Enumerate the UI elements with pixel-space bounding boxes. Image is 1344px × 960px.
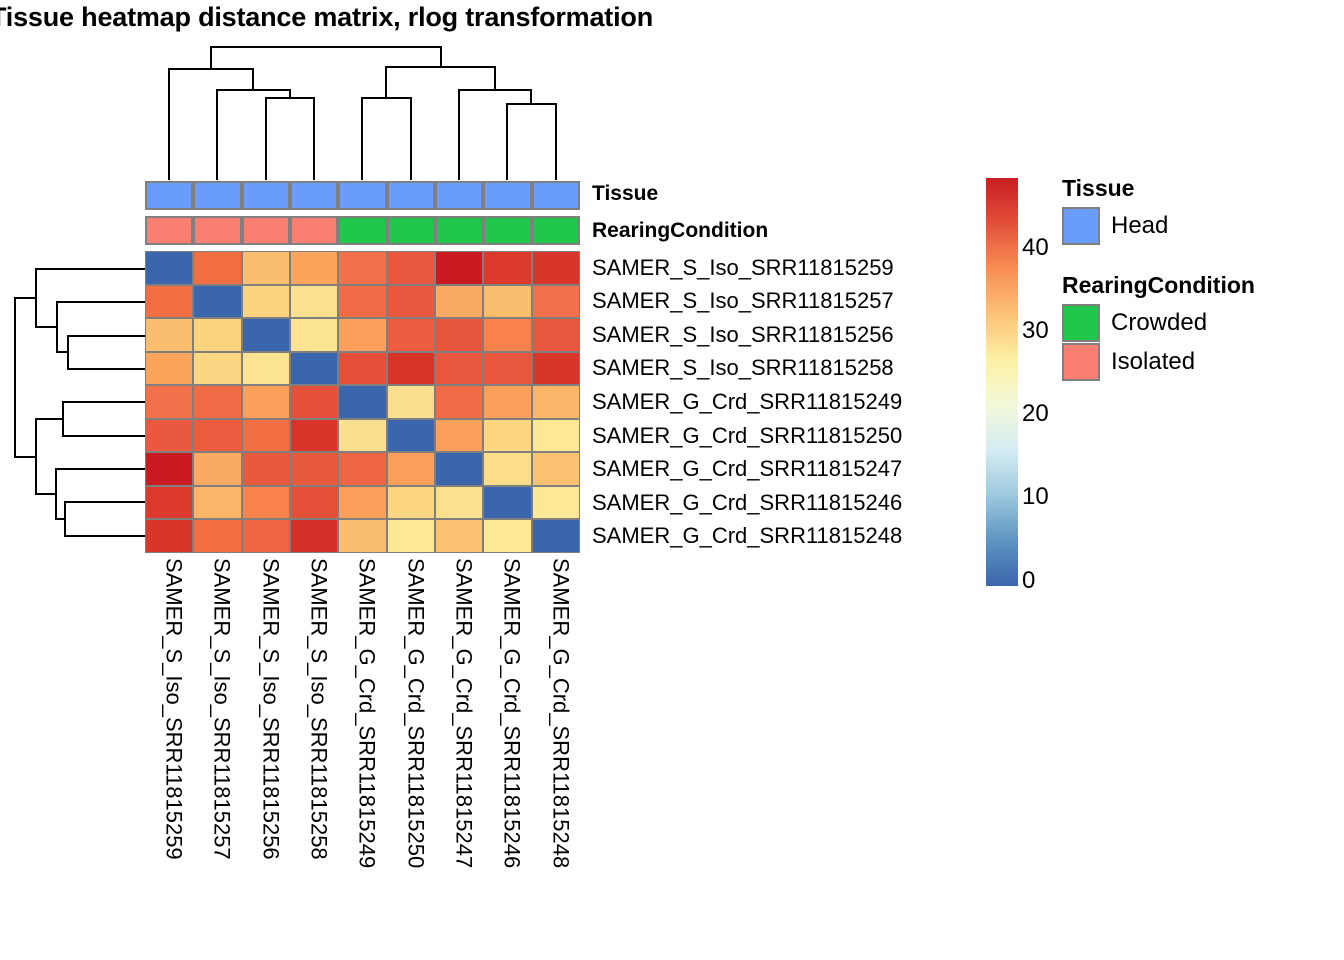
heatmap-cell xyxy=(193,419,241,453)
annotation-rearing-cell xyxy=(435,216,483,245)
legend-rearingcondition-entries: CrowdedIsolated xyxy=(1062,303,1255,381)
heatmap-cell xyxy=(387,519,435,553)
heatmap-cell xyxy=(387,251,435,285)
column-label-slot: SAMER_G_Crd_SRR11815250 xyxy=(387,558,435,938)
heatmap-cell xyxy=(483,385,531,419)
row-label: SAMER_S_Iso_SRR11815257 xyxy=(592,285,902,319)
heatmap-cell xyxy=(290,519,338,553)
heatmap-cell xyxy=(145,318,193,352)
heatmap-cell xyxy=(145,352,193,386)
heatmap-cell xyxy=(242,519,290,553)
annotation-tissue-cell xyxy=(532,181,580,210)
legend-rearingcondition-entry[interactable]: Isolated xyxy=(1062,342,1255,381)
row-dendrogram xyxy=(8,252,145,552)
annotation-label-rearingcondition: RearingCondition xyxy=(592,219,768,243)
heatmap-cell xyxy=(338,486,386,520)
column-label-slot: SAMER_G_Crd_SRR11815248 xyxy=(532,558,580,938)
annotation-tissue-cell xyxy=(435,181,483,210)
heatmap-cell xyxy=(435,519,483,553)
heatmap-cell xyxy=(145,251,193,285)
heatmap-cell xyxy=(242,285,290,319)
column-label: SAMER_S_Iso_SRR11815257 xyxy=(211,558,233,860)
heatmap-cell xyxy=(532,452,580,486)
heatmap-cell xyxy=(193,486,241,520)
heatmap-cell xyxy=(193,285,241,319)
heatmap-cell xyxy=(338,385,386,419)
colorbar-gradient xyxy=(986,178,1018,586)
annotation-tissue-cell xyxy=(193,181,241,210)
legend-rearingcondition-entry-label: Isolated xyxy=(1111,350,1195,374)
annotation-rearing-cell xyxy=(193,216,241,245)
heatmap-cell xyxy=(532,385,580,419)
heatmap-cell xyxy=(532,251,580,285)
column-label-slot: SAMER_S_Iso_SRR11815256 xyxy=(242,558,290,938)
column-label: SAMER_G_Crd_SRR11815246 xyxy=(501,558,523,868)
heatmap-cell xyxy=(435,352,483,386)
column-label-slot: SAMER_G_Crd_SRR11815249 xyxy=(338,558,386,938)
column-label: SAMER_S_Iso_SRR11815256 xyxy=(259,558,281,860)
heatmap-cell xyxy=(483,285,531,319)
colorbar-tick-label: 0 xyxy=(1022,569,1035,593)
column-label: SAMER_S_Iso_SRR11815258 xyxy=(308,558,330,860)
heatmap-cell xyxy=(242,251,290,285)
column-label: SAMER_S_Iso_SRR11815259 xyxy=(163,558,185,860)
colorbar-tick-label: 10 xyxy=(1022,485,1049,509)
heatmap-cell xyxy=(145,385,193,419)
row-label: SAMER_G_Crd_SRR11815246 xyxy=(592,486,902,520)
heatmap-cell xyxy=(193,452,241,486)
heatmap-matrix xyxy=(145,251,580,553)
annotation-tissue-cell xyxy=(145,181,193,210)
column-dendrogram xyxy=(145,42,580,180)
heatmap-cell xyxy=(387,385,435,419)
row-label: SAMER_G_Crd_SRR11815249 xyxy=(592,385,902,419)
heatmap-cell xyxy=(532,486,580,520)
heatmap-cell xyxy=(435,419,483,453)
annotation-bar-rearingcondition xyxy=(145,216,580,245)
heatmap-cell xyxy=(483,519,531,553)
colorbar-tick-label: 40 xyxy=(1022,236,1049,260)
heatmap-cell xyxy=(290,419,338,453)
legend-rearingcondition-title: RearingCondition xyxy=(1062,272,1255,299)
heatmap-cell xyxy=(193,352,241,386)
legend-tissue-entry-label: Head xyxy=(1111,214,1168,238)
heatmap-cell xyxy=(338,519,386,553)
heatmap-cell xyxy=(193,251,241,285)
heatmap-cell xyxy=(290,285,338,319)
heatmap-cell xyxy=(193,318,241,352)
heatmap-cell xyxy=(338,318,386,352)
heatmap-cell xyxy=(483,352,531,386)
heatmap-cell xyxy=(338,352,386,386)
row-label: SAMER_S_Iso_SRR11815258 xyxy=(592,352,902,386)
annotation-rearing-cell xyxy=(145,216,193,245)
annotation-rearing-cell xyxy=(532,216,580,245)
annotation-rearing-cell xyxy=(338,216,386,245)
heatmap-cell xyxy=(290,352,338,386)
heatmap-cell xyxy=(145,419,193,453)
column-label-slot: SAMER_S_Iso_SRR11815258 xyxy=(290,558,338,938)
heatmap-cell xyxy=(290,385,338,419)
heatmap-cell xyxy=(435,318,483,352)
legend-rearingcondition-entry-label: Crowded xyxy=(1111,311,1207,335)
annotation-rearing-cell xyxy=(387,216,435,245)
heatmap-cell xyxy=(338,285,386,319)
heatmap-cell xyxy=(242,486,290,520)
annotation-tissue-cell xyxy=(483,181,531,210)
legend-rearingcondition: RearingCondition CrowdedIsolated xyxy=(1062,272,1255,381)
column-label: SAMER_G_Crd_SRR11815248 xyxy=(549,558,571,868)
heatmap-cell xyxy=(483,419,531,453)
heatmap-cell xyxy=(435,486,483,520)
heatmap-cell xyxy=(387,318,435,352)
heatmap-cell xyxy=(290,486,338,520)
heatmap-cell xyxy=(532,419,580,453)
annotation-label-tissue: Tissue xyxy=(592,182,658,206)
heatmap-cell xyxy=(145,519,193,553)
annotation-bar-tissue xyxy=(145,181,580,210)
column-label-slot: SAMER_G_Crd_SRR11815246 xyxy=(483,558,531,938)
column-label-slot: SAMER_S_Iso_SRR11815257 xyxy=(193,558,241,938)
heatmap-cell xyxy=(483,251,531,285)
heatmap-cell xyxy=(145,452,193,486)
colorbar-tick-label: 30 xyxy=(1022,319,1049,343)
row-label: SAMER_S_Iso_SRR11815259 xyxy=(592,251,902,285)
page-title: Tissue heatmap distance matrix, rlog tra… xyxy=(0,2,653,33)
heatmap-cell xyxy=(387,285,435,319)
heatmap-cell xyxy=(193,519,241,553)
column-label-slot: SAMER_S_Iso_SRR11815259 xyxy=(145,558,193,938)
annotation-tissue-cell xyxy=(242,181,290,210)
column-label-slot: SAMER_G_Crd_SRR11815247 xyxy=(435,558,483,938)
heatmap-cell xyxy=(387,419,435,453)
heatmap-cell xyxy=(387,452,435,486)
legend-tissue-swatch xyxy=(1062,207,1100,245)
column-label: SAMER_G_Crd_SRR11815247 xyxy=(453,558,475,868)
heatmap-cell xyxy=(338,251,386,285)
annotation-tissue-cell xyxy=(290,181,338,210)
annotation-tissue-cell xyxy=(387,181,435,210)
heatmap-cell xyxy=(242,385,290,419)
heatmap-cell xyxy=(193,385,241,419)
heatmap-cell xyxy=(242,318,290,352)
legend-tissue-title: Tissue xyxy=(1062,175,1168,202)
row-label: SAMER_G_Crd_SRR11815248 xyxy=(592,520,902,554)
heatmap-cell xyxy=(435,452,483,486)
row-label-list: SAMER_S_Iso_SRR11815259SAMER_S_Iso_SRR11… xyxy=(592,251,902,553)
heatmap-cell xyxy=(532,285,580,319)
annotation-rearing-cell xyxy=(483,216,531,245)
legend-rearingcondition-swatch xyxy=(1062,343,1100,381)
heatmap-cell xyxy=(483,486,531,520)
column-label: SAMER_G_Crd_SRR11815250 xyxy=(404,558,426,868)
annotation-tissue-cell xyxy=(338,181,386,210)
heatmap-cell xyxy=(387,486,435,520)
heatmap-cell xyxy=(483,452,531,486)
heatmap-cell xyxy=(483,318,531,352)
heatmap-cell xyxy=(338,452,386,486)
heatmap-cell xyxy=(338,419,386,453)
heatmap-cell xyxy=(435,385,483,419)
heatmap-cell xyxy=(532,519,580,553)
annotation-rearing-cell xyxy=(242,216,290,245)
heatmap-cell xyxy=(242,419,290,453)
legend-rearingcondition-entry[interactable]: Crowded xyxy=(1062,303,1255,342)
heatmap-cell xyxy=(532,318,580,352)
heatmap-cell xyxy=(242,452,290,486)
legend-rearingcondition-swatch xyxy=(1062,304,1100,342)
row-label: SAMER_G_Crd_SRR11815250 xyxy=(592,419,902,453)
colorbar-tick-label: 20 xyxy=(1022,402,1049,426)
heatmap-cell xyxy=(145,486,193,520)
heatmap-cell xyxy=(435,285,483,319)
legend-tissue-entry[interactable]: Head xyxy=(1062,206,1168,245)
heatmap-cell xyxy=(532,352,580,386)
heatmap-cell xyxy=(242,352,290,386)
legend-tissue: Tissue Head xyxy=(1062,175,1168,245)
heatmap-cell xyxy=(290,251,338,285)
legend-tissue-entries: Head xyxy=(1062,206,1168,245)
heatmap-cell xyxy=(387,352,435,386)
row-label: SAMER_G_Crd_SRR11815247 xyxy=(592,452,902,486)
heatmap-cell xyxy=(145,285,193,319)
column-label: SAMER_G_Crd_SRR11815249 xyxy=(356,558,378,868)
column-label-list: SAMER_S_Iso_SRR11815259SAMER_S_Iso_SRR11… xyxy=(145,558,580,938)
heatmap-cell xyxy=(435,251,483,285)
row-label: SAMER_S_Iso_SRR11815256 xyxy=(592,318,902,352)
heatmap-cell xyxy=(290,318,338,352)
heatmap-cell xyxy=(290,452,338,486)
annotation-rearing-cell xyxy=(290,216,338,245)
